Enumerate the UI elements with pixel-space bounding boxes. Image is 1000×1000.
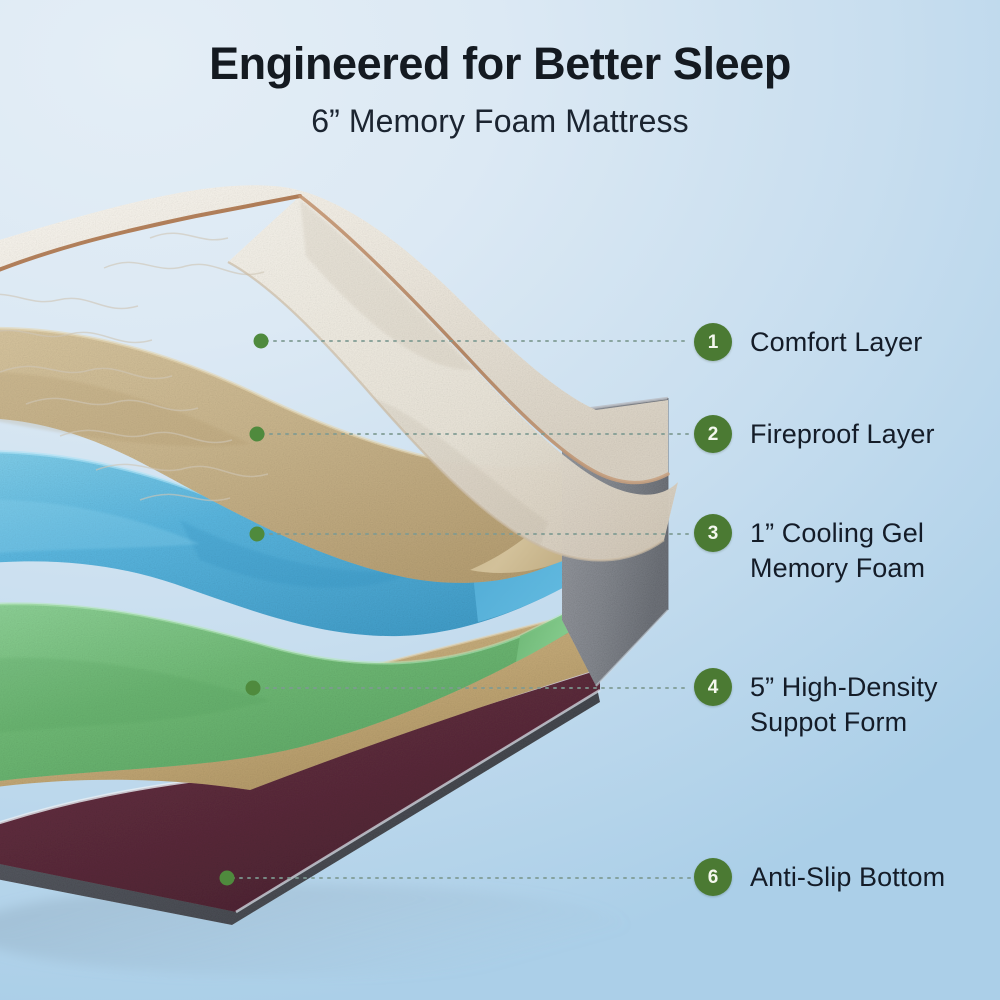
callout-label-4: 5” High-Density Suppot Form: [750, 668, 938, 740]
callout-label-3-line2: Memory Foam: [750, 551, 925, 586]
callout-label-2: Fireproof Layer: [750, 415, 935, 452]
infographic-poster: Engineered for Better Sleep 6” Memory Fo…: [0, 0, 1000, 1000]
mattress-cutaway-illustration: [0, 0, 1000, 1000]
callout-anti-slip-bottom[interactable]: 6 Anti-Slip Bottom: [694, 858, 945, 896]
callout-badge-4: 4: [694, 668, 732, 706]
callout-badge-3: 3: [694, 514, 732, 552]
anchor-dot-1: [254, 334, 269, 349]
callout-label-3: 1” Cooling Gel Memory Foam: [750, 514, 925, 586]
callout-comfort-layer[interactable]: 1 Comfort Layer: [694, 323, 922, 361]
callout-label-4-line2: Suppot Form: [750, 705, 938, 740]
anchor-dot-6: [220, 871, 235, 886]
page-subtitle: 6” Memory Foam Mattress: [0, 104, 1000, 139]
anchor-dot-3: [250, 527, 265, 542]
callout-fireproof-layer[interactable]: 2 Fireproof Layer: [694, 415, 935, 453]
callout-badge-2: 2: [694, 415, 732, 453]
callout-label-6-line1: Anti-Slip Bottom: [750, 862, 945, 892]
callout-label-1: Comfort Layer: [750, 323, 922, 360]
anchor-dot-4: [246, 681, 261, 696]
anchor-dot-2: [250, 427, 265, 442]
callout-label-4-line1: 5” High-Density: [750, 672, 938, 702]
callout-high-density-support[interactable]: 4 5” High-Density Suppot Form: [694, 668, 938, 740]
callout-label-1-line1: Comfort Layer: [750, 327, 922, 357]
callout-cooling-gel-memory-foam[interactable]: 3 1” Cooling Gel Memory Foam: [694, 514, 925, 586]
callout-label-3-line1: 1” Cooling Gel: [750, 518, 924, 548]
callout-badge-6: 6: [694, 858, 732, 896]
callout-label-6: Anti-Slip Bottom: [750, 858, 945, 895]
page-title: Engineered for Better Sleep: [0, 40, 1000, 88]
header: Engineered for Better Sleep 6” Memory Fo…: [0, 40, 1000, 139]
callout-badge-1: 1: [694, 323, 732, 361]
callout-label-2-line1: Fireproof Layer: [750, 419, 935, 449]
